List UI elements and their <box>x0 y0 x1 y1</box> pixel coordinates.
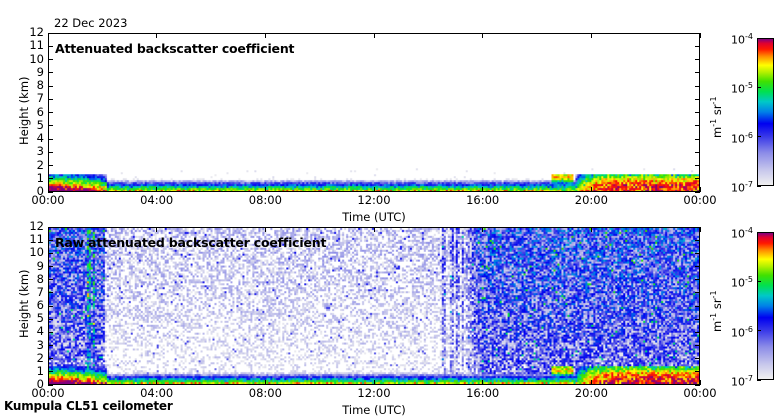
y-tickmark <box>48 292 53 293</box>
x-tick-label-0800: 08:00 <box>237 195 293 206</box>
y-tickmark-right <box>695 253 700 254</box>
y-tickmark-right <box>695 371 700 372</box>
colorbar-gradient-top <box>758 39 773 185</box>
x-tickmark-top <box>482 227 483 232</box>
colorbar-tickmark <box>757 330 761 331</box>
x-tickmark <box>591 380 592 385</box>
x-tick-label-0400: 04:00 <box>129 388 185 399</box>
x-tick-label-0400: 04:00 <box>129 195 185 206</box>
y-tick-label-11: 11 <box>14 234 44 245</box>
y-tickmark <box>48 125 53 126</box>
x-tickmark-top <box>156 227 157 232</box>
colorbar-tickmark <box>757 186 761 187</box>
y-tickmark <box>48 59 53 60</box>
y-tick-label-1: 1 <box>14 173 44 184</box>
y-tickmark-right <box>695 99 700 100</box>
y-tickmark <box>48 240 53 241</box>
y-tickmark-right <box>695 292 700 293</box>
colorbar-bottom[interactable] <box>757 232 774 380</box>
y-tickmark <box>48 332 53 333</box>
colorbar-tick-label: 10-5 <box>719 275 753 289</box>
colorbar-tick-label: 10-4 <box>719 226 753 240</box>
y-tickmark-right <box>695 358 700 359</box>
x-tick-label-2000: 20:00 <box>563 388 619 399</box>
x-tickmark-top <box>265 33 266 38</box>
x-tickmark <box>374 187 375 192</box>
y-tickmark <box>48 279 53 280</box>
date-label: 22 Dec 2023 <box>54 16 127 30</box>
colorbar-tick-label: 10-6 <box>719 325 753 339</box>
heatmap-canvas-raw <box>49 228 699 384</box>
colorbar-tickmark <box>757 232 761 233</box>
colorbar-tickmark <box>757 87 761 88</box>
y-tickmark <box>48 72 53 73</box>
x-tick-label-1200: 12:00 <box>346 195 402 206</box>
colorbar-axis-title: m-1 sr-1 <box>709 96 724 138</box>
y-axis-title: Height (km) <box>17 269 31 338</box>
y-tick-label-10: 10 <box>14 247 44 258</box>
y-tickmark-right <box>695 139 700 140</box>
colorbar-tickmark <box>757 38 761 39</box>
x-tickmark-top <box>374 227 375 232</box>
y-tick-label-2: 2 <box>14 353 44 364</box>
y-tickmark-right <box>695 319 700 320</box>
y-tick-label-12: 12 <box>14 221 44 232</box>
x-tick-label-2000: 20:00 <box>563 195 619 206</box>
y-tickmark-right <box>695 125 700 126</box>
y-tickmark-right <box>695 59 700 60</box>
y-tickmark <box>48 345 53 346</box>
x-tickmark-top <box>156 33 157 38</box>
x-tick-label-1200: 12:00 <box>346 388 402 399</box>
x-tickmark-top <box>265 227 266 232</box>
y-tickmark <box>48 319 53 320</box>
x-tick-label-0000: 00:00 <box>672 195 728 206</box>
y-tickmark-right <box>695 332 700 333</box>
heatmap-canvas-attenuated <box>49 34 699 191</box>
x-tickmark <box>265 187 266 192</box>
y-tickmark-right <box>695 178 700 179</box>
x-tick-label-1600: 16:00 <box>455 388 511 399</box>
colorbar-tick-label: 10-7 <box>719 180 753 194</box>
x-tick-label-0000: 00:00 <box>672 388 728 399</box>
y-tickmark-right <box>695 86 700 87</box>
plot-panel-raw-backscatter[interactable]: Raw attenuated backscatter coefficient <box>48 227 700 385</box>
y-tickmark <box>48 266 53 267</box>
colorbar-axis-title: m-1 sr-1 <box>709 290 724 332</box>
y-tickmark-right <box>695 345 700 346</box>
y-tickmark-right <box>695 279 700 280</box>
x-tickmark-top <box>48 33 49 38</box>
y-tick-label-1: 1 <box>14 366 44 377</box>
x-tickmark <box>48 187 49 192</box>
y-tick-label-11: 11 <box>14 40 44 51</box>
x-tickmark <box>700 187 701 192</box>
colorbar-tick-label: 10-4 <box>719 32 753 46</box>
y-tickmark <box>48 112 53 113</box>
x-tickmark <box>156 187 157 192</box>
x-tick-label-0800: 08:00 <box>237 388 293 399</box>
x-tickmark-top <box>482 33 483 38</box>
y-axis-title: Height (km) <box>17 76 31 145</box>
x-tickmark <box>700 380 701 385</box>
y-tickmark-right <box>695 72 700 73</box>
y-tickmark-right <box>695 266 700 267</box>
x-tickmark-top <box>591 227 592 232</box>
x-tickmark <box>156 380 157 385</box>
colorbar-tick-label: 10-6 <box>719 131 753 145</box>
y-tickmark <box>48 227 53 228</box>
x-tickmark <box>374 380 375 385</box>
y-tick-label-3: 3 <box>14 340 44 351</box>
y-tickmark <box>48 86 53 87</box>
colorbar-tickmark <box>757 380 761 381</box>
colorbar-gradient-bottom <box>758 233 773 379</box>
y-tickmark <box>48 253 53 254</box>
y-tick-label-12: 12 <box>14 27 44 38</box>
x-tickmark-top <box>591 33 592 38</box>
x-tickmark-top <box>700 33 701 38</box>
x-tickmark <box>591 187 592 192</box>
y-tickmark <box>48 371 53 372</box>
x-tickmark <box>482 187 483 192</box>
colorbar-top[interactable] <box>757 38 774 186</box>
colorbar-tick-label: 10-5 <box>719 81 753 95</box>
y-tickmark <box>48 99 53 100</box>
panel-title-attenuated: Attenuated backscatter coefficient <box>55 41 294 56</box>
y-tickmark <box>48 306 53 307</box>
x-axis-title: Time (UTC) <box>314 403 434 417</box>
y-tick-label-3: 3 <box>14 146 44 157</box>
plot-panel-attenuated-backscatter[interactable]: Attenuated backscatter coefficient <box>48 33 700 192</box>
y-tickmark <box>48 46 53 47</box>
colorbar-tickmark <box>757 136 761 137</box>
x-tick-label-0000: 00:00 <box>20 388 76 399</box>
y-tickmark <box>48 165 53 166</box>
y-tickmark <box>48 152 53 153</box>
y-tickmark-right <box>695 112 700 113</box>
footer-site-label: Kumpula CL51 ceilometer <box>4 399 173 413</box>
x-axis-title: Time (UTC) <box>314 210 434 224</box>
y-tick-label-2: 2 <box>14 160 44 171</box>
x-tickmark <box>482 380 483 385</box>
y-tickmark-right <box>695 152 700 153</box>
y-tickmark-right <box>695 46 700 47</box>
panel-title-raw: Raw attenuated backscatter coefficient <box>55 235 326 250</box>
y-tickmark-right <box>695 165 700 166</box>
y-tickmark <box>48 139 53 140</box>
y-tickmark-right <box>695 306 700 307</box>
y-tickmark <box>48 358 53 359</box>
x-tick-label-1600: 16:00 <box>455 195 511 206</box>
x-tickmark-top <box>374 33 375 38</box>
y-tick-label-10: 10 <box>14 54 44 65</box>
x-tick-label-0000: 00:00 <box>20 195 76 206</box>
y-tickmark-right <box>695 240 700 241</box>
x-tickmark-top <box>48 227 49 232</box>
y-tickmark <box>48 178 53 179</box>
x-tickmark <box>265 380 266 385</box>
colorbar-tickmark <box>757 281 761 282</box>
colorbar-tick-label: 10-7 <box>719 374 753 388</box>
x-tickmark-top <box>700 227 701 232</box>
x-tickmark <box>48 380 49 385</box>
y-tickmark <box>48 33 53 34</box>
